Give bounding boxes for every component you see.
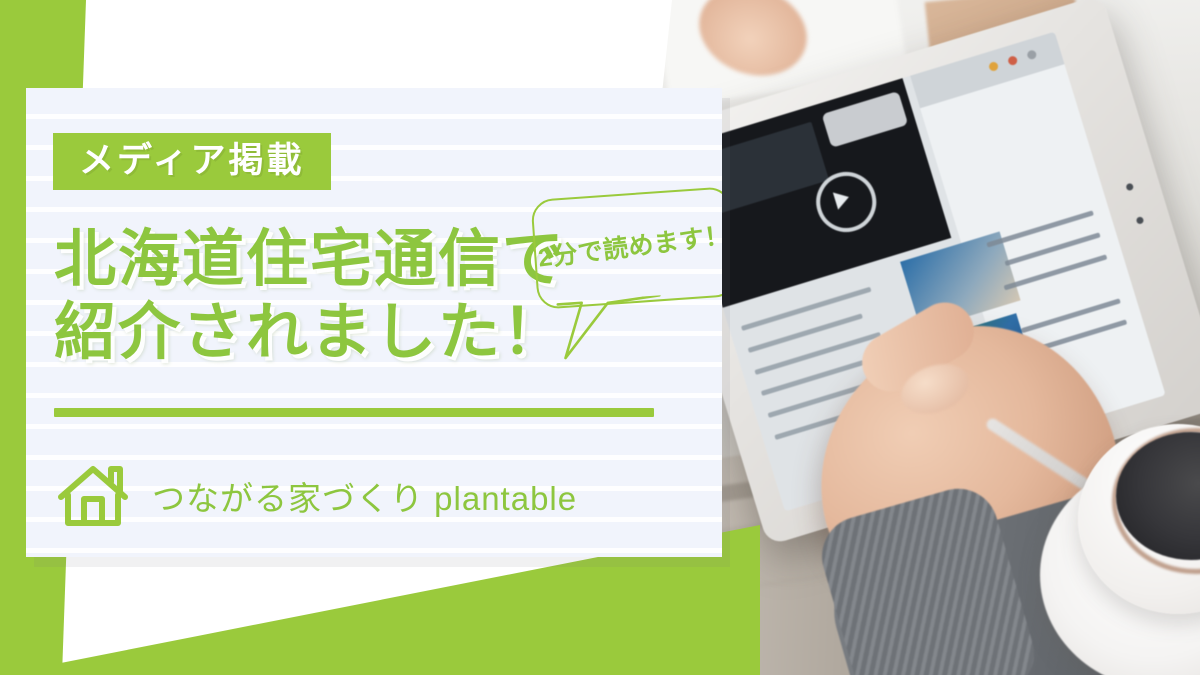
callout-tail-icon bbox=[552, 295, 666, 363]
content-card: メディア掲載 北海道住宅通信で 紹介されました！ つながる家づくり planta… bbox=[26, 88, 722, 557]
reading-time-callout: 2分で読めます！ bbox=[530, 186, 722, 310]
headline-line-2: 紹介されました！ bbox=[54, 296, 566, 369]
brand-logo-text: つながる家づくり plantable bbox=[152, 472, 577, 520]
tablet-camera bbox=[1125, 183, 1134, 192]
headline-underline bbox=[54, 408, 654, 417]
tablet-sensor bbox=[1135, 216, 1144, 225]
media-badge-label: メディア掲載 bbox=[79, 141, 305, 180]
media-badge: メディア掲載 bbox=[53, 133, 331, 190]
brand-logo: つながる家づくり plantable bbox=[56, 463, 577, 529]
house-icon bbox=[56, 463, 130, 529]
headline-line-1: 北海道住宅通信で bbox=[54, 223, 566, 296]
banner-canvas: メディア掲載 北海道住宅通信で 紹介されました！ つながる家づくり planta… bbox=[0, 0, 1200, 675]
headline: 北海道住宅通信で 紹介されました！ bbox=[54, 223, 566, 369]
